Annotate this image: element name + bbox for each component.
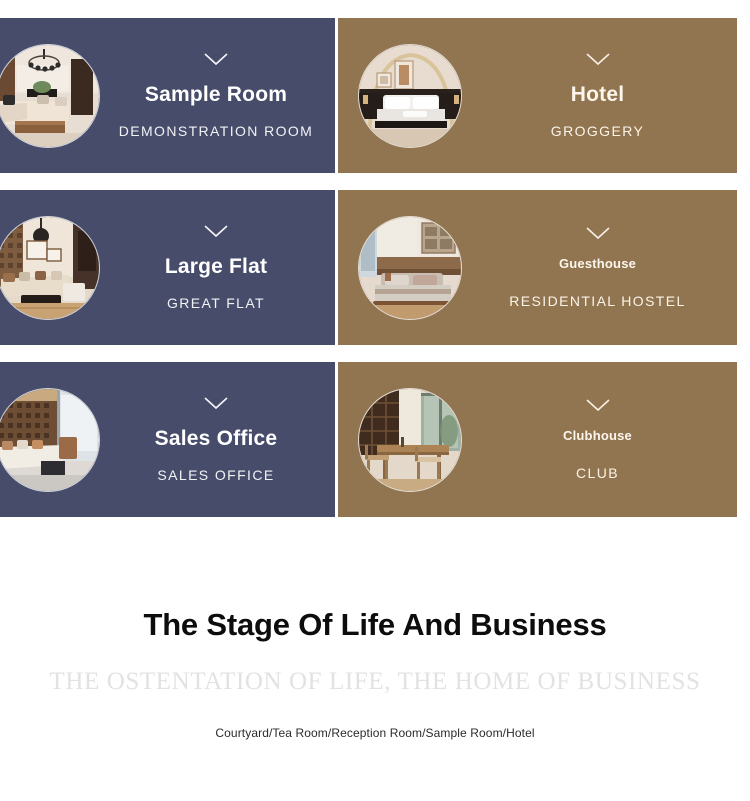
- banner-caption: Courtyard/Tea Room/Reception Room/Sample…: [0, 696, 750, 740]
- category-title: Guesthouse: [559, 257, 636, 271]
- category-title: Hotel: [571, 83, 625, 106]
- chevron-down-icon: [585, 226, 611, 245]
- category-card-large-flat[interactable]: Large Flat GREAT FLAT: [0, 190, 335, 345]
- category-text: Hotel GROGGERY: [468, 18, 727, 173]
- category-subtitle: SALES OFFICE: [157, 467, 274, 483]
- category-text: Clubhouse CLUB: [468, 362, 727, 517]
- chevron-down-icon: [203, 396, 229, 415]
- chevron-down-icon: [585, 52, 611, 71]
- category-photo: [0, 44, 100, 148]
- category-title: Sample Room: [145, 83, 287, 106]
- category-row: Sample Room DEMONSTRATION ROOM: [0, 18, 750, 173]
- category-text: Sales Office SALES OFFICE: [105, 362, 327, 517]
- category-title: Clubhouse: [563, 429, 632, 443]
- category-text: Guesthouse RESIDENTIAL HOSTEL: [468, 190, 727, 345]
- category-photo: [358, 44, 462, 148]
- hotel-bedroom-with-framed-art-image: [359, 45, 461, 147]
- category-card-guesthouse[interactable]: Guesthouse RESIDENTIAL HOSTEL: [338, 190, 737, 345]
- category-row: Sales Office SALES OFFICE: [0, 362, 750, 517]
- category-card-sales-office[interactable]: Sales Office SALES OFFICE: [0, 362, 335, 517]
- banner-subtitle: THE OSTENTATION OF LIFE, THE HOME OF BUS…: [0, 642, 750, 696]
- category-title: Sales Office: [155, 427, 278, 450]
- sales-office-lounge-image: [0, 389, 99, 491]
- category-subtitle: CLUB: [576, 465, 619, 481]
- clubhouse-tea-room-image: [359, 389, 461, 491]
- category-subtitle: RESIDENTIAL HOSTEL: [509, 293, 685, 309]
- category-photo: [0, 216, 100, 320]
- category-photo: [0, 388, 100, 492]
- category-text: Sample Room DEMONSTRATION ROOM: [105, 18, 327, 173]
- category-subtitle: DEMONSTRATION ROOM: [119, 123, 314, 139]
- category-photo: [358, 216, 462, 320]
- category-grid: Sample Room DEMONSTRATION ROOM: [0, 18, 750, 534]
- category-text: Large Flat GREAT FLAT: [105, 190, 327, 345]
- category-subtitle: GROGGERY: [551, 123, 644, 139]
- chevron-down-icon: [585, 398, 611, 417]
- chevron-down-icon: [203, 224, 229, 243]
- living-room-with-chandelier-image: [0, 45, 99, 147]
- category-card-clubhouse[interactable]: Clubhouse CLUB: [338, 362, 737, 517]
- category-subtitle: GREAT FLAT: [167, 295, 265, 311]
- category-row: Large Flat GREAT FLAT: [0, 190, 750, 345]
- category-photo: [358, 388, 462, 492]
- category-card-sample-room[interactable]: Sample Room DEMONSTRATION ROOM: [0, 18, 335, 173]
- chevron-down-icon: [203, 52, 229, 71]
- bottom-banner: The Stage Of Life And Business THE OSTEN…: [0, 580, 750, 740]
- banner-title: The Stage Of Life And Business: [0, 580, 750, 642]
- category-title: Large Flat: [165, 255, 267, 278]
- category-card-hotel[interactable]: Hotel GROGGERY: [338, 18, 737, 173]
- large-flat-living-room-image: [0, 217, 99, 319]
- guesthouse-bedroom-image: [359, 217, 461, 319]
